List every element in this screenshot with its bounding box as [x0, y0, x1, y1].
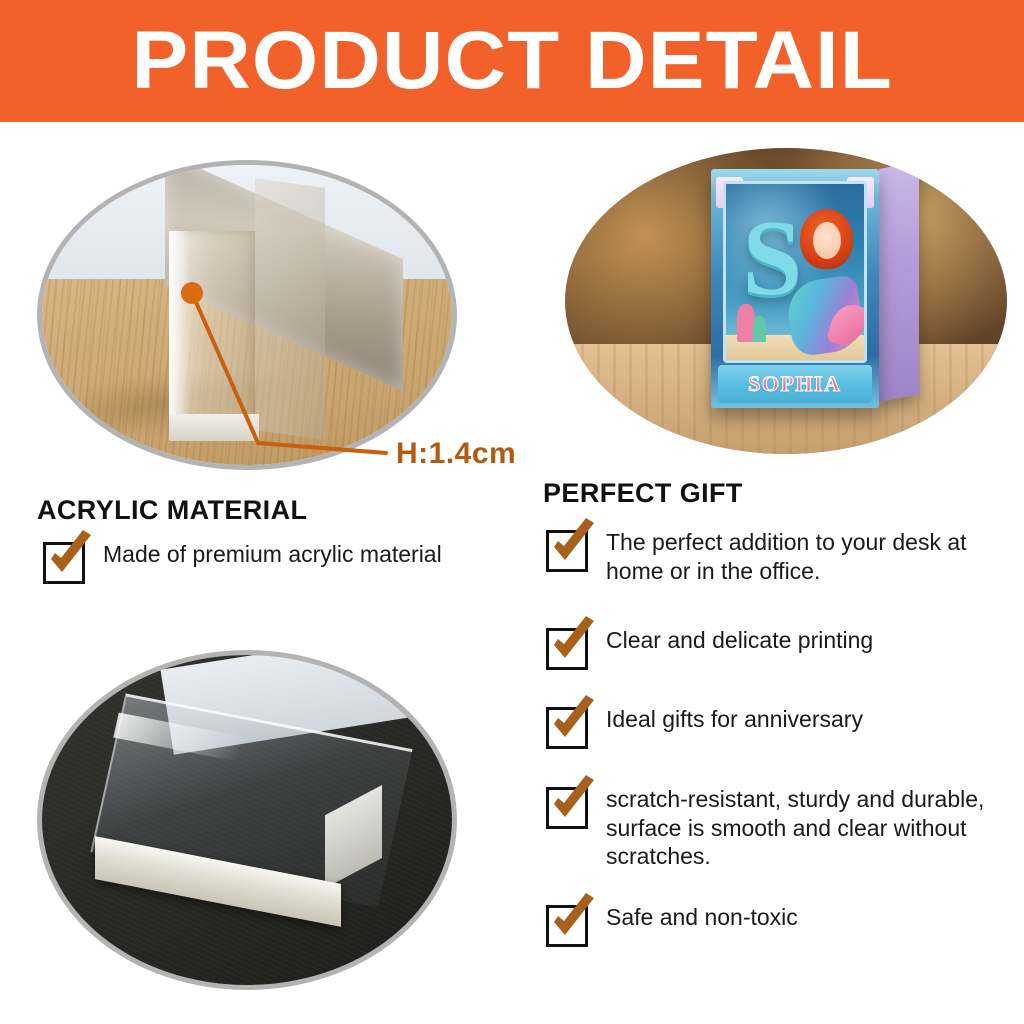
acrylic-base-edge [169, 414, 259, 441]
checkmark-icon [545, 773, 603, 831]
checkmark-icon [42, 528, 100, 586]
photo-acrylic-block-edge [37, 160, 457, 470]
checkbox-checked-icon [546, 905, 588, 947]
feature-item-gift-4: Safe and non-toxic [546, 903, 996, 947]
feature-item-gift-3: scratch-resistant, sturdy and durable, s… [546, 785, 1006, 871]
acrylic-edge-highlight [169, 231, 190, 441]
checkbox-checked-icon [546, 707, 588, 749]
feature-item-gift-1: Clear and delicate printing [546, 626, 996, 670]
photo-acrylic-slab [37, 650, 457, 990]
checkbox-checked-icon [546, 530, 588, 572]
feature-item-gift-2: Ideal gifts for anniversary [546, 705, 996, 749]
feature-text: Made of premium acrylic material [103, 540, 442, 569]
feature-text: Ideal gifts for anniversary [606, 705, 863, 734]
gift-box-nameplate: SOPHIA [718, 365, 873, 403]
feature-text: Safe and non-toxic [606, 903, 798, 932]
gift-box-side-panel [879, 162, 919, 402]
gift-box-display-window: S [723, 181, 867, 362]
page-header-banner: PRODUCT DETAIL [0, 0, 1024, 122]
gift-box-front: S SOPHIA [711, 169, 879, 408]
checkbox-checked-icon [546, 628, 588, 670]
dimension-label-height: H:1.4cm [396, 437, 516, 471]
acrylic-edge-scene [42, 165, 452, 465]
personalized-name: SOPHIA [748, 371, 841, 397]
checkmark-icon [545, 516, 603, 574]
feature-item-acrylic-0: Made of premium acrylic material [43, 540, 513, 584]
section-heading-acrylic-material: ACRYLIC MATERIAL [37, 495, 307, 526]
checkbox-checked-icon [43, 542, 85, 584]
face [813, 222, 841, 259]
page-title: PRODUCT DETAIL [131, 20, 893, 102]
seaweed-icon [753, 316, 765, 342]
feature-text: scratch-resistant, sturdy and durable, s… [606, 785, 1006, 871]
checkmark-icon [545, 614, 603, 672]
feature-item-gift-0: The perfect addition to your desk at hom… [546, 528, 996, 585]
feature-text: The perfect addition to your desk at hom… [606, 528, 996, 585]
acrylic-side-face [255, 178, 325, 440]
checkmark-icon [545, 693, 603, 751]
photo-mermaid-gift-box: S SOPHIA [565, 148, 1007, 454]
callout-anchor-dot [181, 282, 203, 304]
checkbox-checked-icon [546, 787, 588, 829]
feature-text: Clear and delicate printing [606, 626, 873, 655]
section-heading-perfect-gift: PERFECT GIFT [543, 478, 743, 509]
checkmark-icon [545, 891, 603, 949]
